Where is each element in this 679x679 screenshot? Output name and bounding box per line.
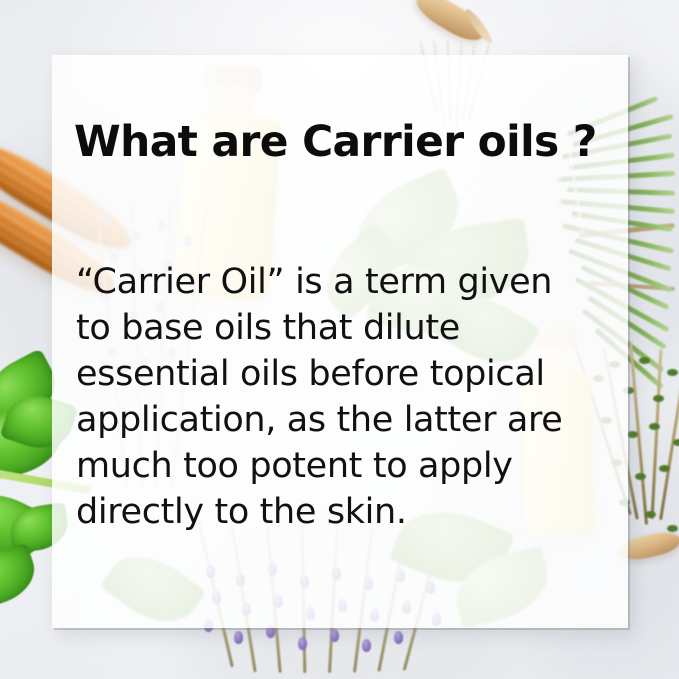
body-line: much too potent to apply [76, 443, 622, 489]
body-line: application, as the latter are [76, 397, 622, 443]
body-line: essential oils before topical [76, 351, 622, 397]
body-paragraph: “Carrier Oil” is a term given to base oi… [76, 259, 622, 535]
image-canvas: What are Carrier oils ? “Carrier Oil” is… [0, 0, 679, 679]
page-title: What are Carrier oils ? [74, 117, 606, 167]
body-line: “Carrier Oil” is a term given [76, 259, 622, 305]
body-line: directly to the skin. [76, 489, 622, 535]
body-line: to base oils that dilute [76, 305, 622, 351]
white-text-panel: What are Carrier oils ? “Carrier Oil” is… [52, 55, 628, 628]
